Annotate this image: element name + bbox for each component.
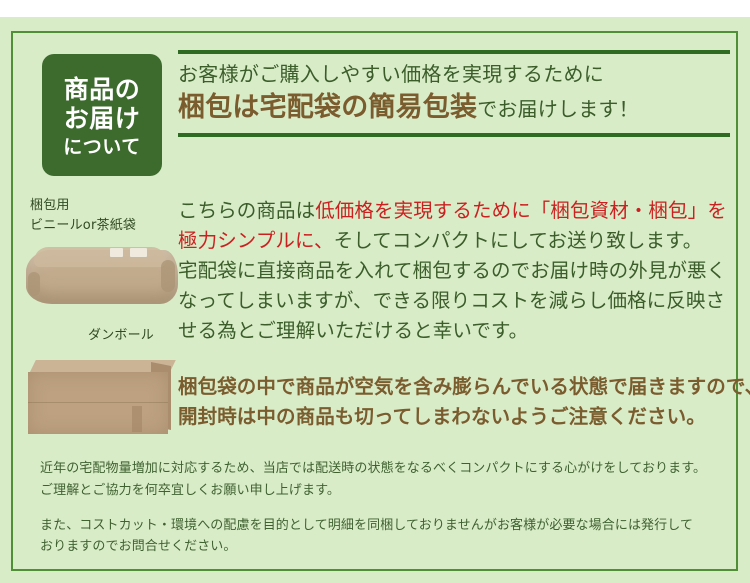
body-paragraph-2-line-1: 梱包袋の中で商品が空気を含み膨らんでいる状態で届きますので、 <box>178 372 738 402</box>
bag-caption-line-1: 梱包用 <box>30 196 188 216</box>
shipping-packaging-notice-banner: 商品の お届け について お客様がご購入しやすい価格を実現するために 梱包は宅配… <box>0 0 750 583</box>
bag-right-crease-shape <box>161 260 175 292</box>
banner-footer-notes: 近年の宅配物量増加に対応するため、当店では配送時の状態をなるべくコンパクトにする… <box>40 458 730 558</box>
body-paragraph-1: こちらの商品は低価格を実現するために「梱包資材・梱包」を 極力シンプルに、そして… <box>178 196 738 346</box>
footer-note-2-line-1: また、コストカット・環境への配慮を目的として明細を同梱しておりませんがお客様が必… <box>40 515 730 537</box>
body-paragraph-1-line-3: 宅配袋に直接商品を入れて梱包するのでお届け時の外見が悪く <box>178 256 738 286</box>
footer-note-2: また、コストカット・環境への配慮を目的として明細を同梱しておりませんがお客様が必… <box>40 515 730 559</box>
header-rule-bottom <box>178 133 730 137</box>
footer-note-1-line-2: ご理解とご協力を何卒宜しくお願い申し上げます。 <box>40 480 730 502</box>
body-paragraph-1-line-4: なってしまいますが、できる限りコストを減らし価格に反映さ <box>178 286 738 316</box>
body-p1-l1-plain: こちらの商品は <box>178 199 315 222</box>
cardboard-box-photo <box>20 350 184 442</box>
section-badge-line-2: お届け <box>64 104 141 133</box>
body-paragraph-1-line-1: こちらの商品は低価格を実現するために「梱包資材・梱包」を <box>178 196 738 226</box>
header-headline-emphasis: 梱包は宅配袋の簡易包装 <box>178 92 477 123</box>
bag-address-label-shape <box>130 248 147 257</box>
section-badge-line-3: について <box>63 135 140 160</box>
header-headline-tail: でお届けします！ <box>477 97 639 121</box>
header-headline: 梱包は宅配袋の簡易包装でお届けします！ <box>178 90 730 126</box>
body-paragraph-2-line-2: 開封時は中の商品も切ってしまわないようご注意ください。 <box>178 402 738 432</box>
body-p1-l2-emphasis: 極力シンプルに、 <box>178 229 334 252</box>
bag-caption-line-2: ビニールor茶紙袋 <box>30 216 188 236</box>
box-front-face-shape <box>28 372 168 434</box>
body-paragraph-1-line-5: せる為とご理解いただけると幸いです。 <box>178 316 738 346</box>
body-paragraph-2-warning: 梱包袋の中で商品が空気を含み膨らんでいる状態で届きますので、 開封時は中の商品も… <box>178 372 738 432</box>
footer-note-2-line-2: おりますのでお問合せください。 <box>40 536 730 558</box>
section-badge: 商品の お届け について <box>42 54 162 176</box>
banner-body-copy: こちらの商品は低価格を実現するために「梱包資材・梱包」を 極力シンプルに、そして… <box>178 196 738 432</box>
section-badge-line-1: 商品の <box>64 75 141 104</box>
body-p1-l2-plain: そしてコンパクトにしてお送り致します。 <box>334 229 703 252</box>
header-lead-text: お客様がご購入しやすい価格を実現するために <box>178 61 730 88</box>
bag-shipping-label-shape <box>110 248 123 257</box>
banner-header: 商品の お届け について お客様がご購入しやすい価格を実現するために 梱包は宅配… <box>0 42 750 182</box>
box-seam-line-shape <box>28 402 168 403</box>
footer-note-1-line-1: 近年の宅配物量増加に対応するため、当店では配送時の状態をなるべくコンパクトにする… <box>40 458 730 480</box>
bag-left-crease-shape <box>28 272 40 296</box>
header-rule-top <box>178 50 730 54</box>
box-caption: ダンボール <box>88 326 188 346</box>
box-tape-shape <box>132 406 142 432</box>
body-paragraph-1-line-2: 極力シンプルに、そしてコンパクトにしてお送り致します。 <box>178 226 738 256</box>
shipping-bag-photo <box>20 242 186 316</box>
body-p1-l1-emphasis: 低価格を実現するために「梱包資材・梱包」を <box>315 199 727 222</box>
header-text-block: お客様がご購入しやすい価格を実現するために 梱包は宅配袋の簡易包装でお届けします… <box>178 50 730 137</box>
packaging-photo-column: 梱包用 ビニールor茶紙袋 ダンボール <box>16 196 188 442</box>
footer-note-1: 近年の宅配物量増加に対応するため、当店では配送時の状態をなるべくコンパクトにする… <box>40 458 730 502</box>
